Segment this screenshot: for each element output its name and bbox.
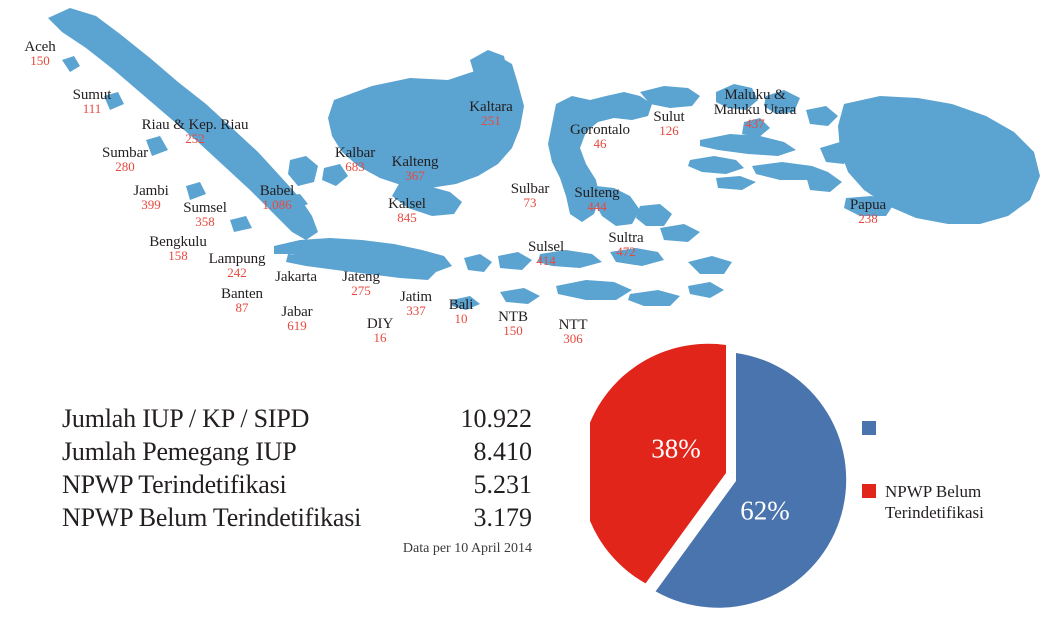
pie-chart-svg (590, 333, 880, 618)
map-region-value: 242 (209, 266, 266, 279)
map-region-label[interactable]: Sulbar73 (511, 182, 550, 210)
map-region-value: 619 (281, 319, 312, 332)
map-region-value: 150 (498, 324, 528, 337)
map-region-value: 414 (528, 254, 564, 267)
map-region-value: 306 (559, 332, 588, 345)
map-region-label[interactable]: Sumsel358 (183, 201, 227, 229)
map-region-value: 275 (342, 284, 380, 297)
map-region-value: 280 (102, 160, 148, 173)
map-region-value: 73 (511, 196, 550, 209)
map-region-label[interactable]: Jakarta (275, 270, 317, 284)
map-region-label[interactable]: NTT306 (559, 318, 588, 346)
map-region-value: 46 (570, 137, 630, 150)
map-region-label[interactable]: Banten87 (221, 287, 263, 315)
legend-label: NPWP Belum Terindetifikasi (885, 481, 984, 524)
indonesia-map-svg (0, 0, 1047, 345)
map-region-name: Maluku &Maluku Utara (714, 88, 797, 118)
map-region-value: 337 (400, 304, 432, 317)
map-region-value: 16 (367, 331, 393, 344)
stat-row: Jumlah IUP / KP / SIPD10.922 (62, 404, 532, 437)
map-region-value: 399 (133, 198, 168, 211)
stat-value: 10.922 (422, 404, 532, 434)
map-region-label[interactable]: Sulsel414 (528, 240, 564, 268)
indonesia-map: Aceh150Sumut111Riau & Kep. Riau252Sumbar… (0, 0, 1047, 345)
map-region-value: 150 (24, 54, 55, 67)
map-region-label[interactable]: Kaltara251 (469, 100, 512, 128)
map-region-value: 437 (714, 117, 797, 130)
map-region-label[interactable]: Aceh150 (24, 40, 55, 68)
map-region-value: 683 (335, 160, 375, 173)
map-region-label[interactable]: Sumbar280 (102, 146, 148, 174)
map-region-label[interactable]: DIY16 (367, 317, 393, 345)
map-region-value: 358 (183, 215, 227, 228)
map-region-value: 367 (392, 169, 439, 182)
map-region-label[interactable]: Jabar619 (281, 305, 312, 333)
map-region-label[interactable]: Babel1.086 (260, 184, 295, 212)
map-region-value: 252 (142, 132, 249, 145)
map-region-value: 10 (449, 312, 474, 325)
map-region-label[interactable]: Lampung242 (209, 252, 266, 280)
stat-value: 8.410 (422, 437, 532, 467)
map-region-value: 87 (221, 301, 263, 314)
map-region-value: 1.086 (260, 198, 295, 211)
map-region-label[interactable]: Kalteng367 (392, 155, 439, 183)
map-region-label[interactable]: Bengkulu158 (149, 235, 207, 263)
map-region-label[interactable]: Kalsel845 (388, 197, 426, 225)
stat-row: NPWP Terindetifikasi5.231 (62, 470, 532, 503)
map-region-label[interactable]: Maluku &Maluku Utara437 (714, 88, 797, 130)
data-date-caption: Data per 10 April 2014 (62, 541, 532, 557)
pie-label-blue: 62% (740, 496, 790, 527)
map-region-label[interactable]: NTB150 (498, 310, 528, 338)
map-region-label[interactable]: Sultra472 (608, 231, 643, 259)
stat-label: NPWP Belum Terindetifikasi (62, 503, 361, 533)
pie-legend: NPWP Belum Terindetifikasi (862, 418, 1042, 570)
map-region-label[interactable]: Jatim337 (400, 290, 432, 318)
map-region-value: 472 (608, 245, 643, 258)
map-region-label[interactable]: Kalbar683 (335, 146, 375, 174)
map-region-value: 845 (388, 211, 426, 224)
stat-value: 5.231 (422, 470, 532, 500)
map-region-value: 251 (469, 114, 512, 127)
map-region-value: 444 (574, 200, 619, 213)
legend-item[interactable]: NPWP Belum Terindetifikasi (862, 481, 1042, 524)
map-region-label[interactable]: Bali10 (449, 298, 474, 326)
infographic-canvas: Aceh150Sumut111Riau & Kep. Riau252Sumbar… (0, 0, 1047, 622)
map-region-name: Jakarta (275, 270, 317, 285)
map-region-value: 126 (653, 124, 684, 137)
stat-label: Jumlah Pemegang IUP (62, 437, 297, 467)
legend-swatch-icon (862, 484, 876, 498)
stat-label: NPWP Terindetifikasi (62, 470, 287, 500)
map-region-label[interactable]: Jambi399 (133, 184, 168, 212)
pie-label-red: 38% (651, 434, 701, 465)
map-region-value: 238 (850, 212, 886, 225)
stat-value: 3.179 (422, 503, 532, 533)
npwp-pie-chart: 38% 62% (590, 333, 880, 618)
map-region-label[interactable]: Jateng275 (342, 270, 380, 298)
map-region-value: 158 (149, 249, 207, 262)
map-region-label[interactable]: Sulut126 (653, 110, 684, 138)
map-region-label[interactable]: Sumut111 (73, 88, 112, 116)
map-region-value: 111 (73, 102, 112, 115)
summary-statistics-table: Jumlah IUP / KP / SIPD10.922Jumlah Pemeg… (62, 404, 532, 536)
stat-row: NPWP Belum Terindetifikasi3.179 (62, 503, 532, 536)
map-region-label[interactable]: Sulteng444 (574, 186, 619, 214)
legend-swatch-icon (862, 421, 876, 435)
stat-row: Jumlah Pemegang IUP8.410 (62, 437, 532, 470)
stat-label: Jumlah IUP / KP / SIPD (62, 404, 309, 434)
map-region-label[interactable]: Papua238 (850, 198, 886, 226)
map-region-label[interactable]: Gorontalo46 (570, 123, 630, 151)
map-region-label[interactable]: Riau & Kep. Riau252 (142, 118, 249, 146)
legend-item[interactable] (862, 418, 1042, 435)
